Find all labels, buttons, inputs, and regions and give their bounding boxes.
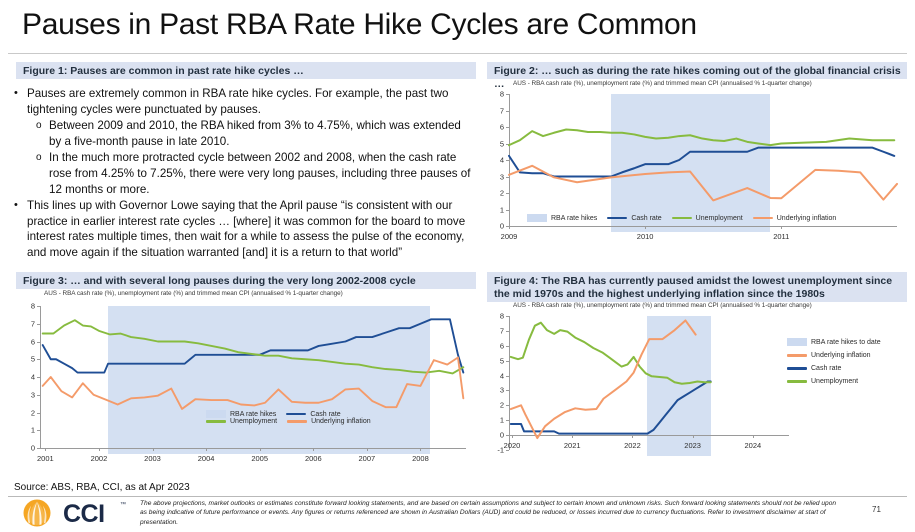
chart-legend: RBA rate hikesCash rateUnemploymentUnder… [527,214,907,222]
figure4-header: Figure 4: The RBA has currently paused a… [487,272,907,302]
legend-label: Unemployment [696,215,743,222]
bullet-circle-icon: o [36,150,49,166]
legend-band-swatch [206,410,226,418]
bullet-dot-icon: • [14,198,27,214]
legend-label: Underlying inflation [311,418,371,425]
page-number: 71 [872,505,881,514]
legend-item[interactable]: RBA rate hikes [206,410,276,418]
bullet-circle-icon: o [36,118,49,134]
figure4-chart: AUS - RBA cash rate (%), unemployment ra… [487,302,907,482]
trademark-symbol: ™ [120,502,126,508]
series-line-cash-rate [43,319,464,372]
series-line-underlying-inflation [509,166,897,201]
legend-item[interactable]: Cash rate [607,214,661,222]
legend-item[interactable]: Underlying inflation [287,418,371,425]
cci-logo: CCI ™ [16,499,128,527]
chart-legend: RBA rate hikes to dateUnderlying inflati… [787,338,907,391]
legend-label: Unemployment [811,378,858,385]
cci-wordmark: CCI [63,500,105,529]
legend-line-swatch [753,217,773,220]
legend-label: Underlying inflation [777,215,837,222]
list-item-text: Pauses are extremely common in RBA rate … [27,86,476,117]
series-line-unemployment [511,323,711,384]
figure3-header: Figure 3: … and with several long pauses… [16,272,476,289]
list-item-text: Between 2009 and 2010, the RBA hiked fro… [49,118,476,149]
legend-label: Cash rate [811,365,841,372]
legend-label: Unemployment [230,418,277,425]
legend-label: Underlying inflation [811,352,871,359]
legend-item[interactable]: Underlying inflation [753,214,837,222]
footer: CCI ™ The above projections, market outl… [0,497,915,529]
series-line-underlying-inflation [43,357,464,408]
disclaimer-text: The above projections, market outlooks o… [140,499,840,527]
legend-label: Cash rate [631,215,661,222]
figure3-chart: AUS - RBA cash rate (%), unemployment ra… [16,290,476,482]
legend-line-swatch [286,413,306,416]
figure1-header: Figure 1: Pauses are common in past rate… [16,62,476,79]
title-divider [8,53,907,54]
legend-line-swatch [787,354,807,357]
list-item: • This lines up with Governor Lowe sayin… [14,198,476,260]
series-line-unemployment [509,129,894,145]
legend-line-swatch [287,420,307,423]
legend-line-swatch [787,380,807,383]
list-item: o In the much more protracted cycle betw… [14,150,476,197]
legend-label: Cash rate [310,411,340,418]
chart-series-layer [487,80,907,262]
legend-band-swatch [787,338,807,346]
legend-item[interactable]: RBA rate hikes to date [787,338,881,346]
figure1-body: • Pauses are extremely common in RBA rat… [14,86,476,262]
legend-label: RBA rate hikes to date [811,339,881,346]
legend-item[interactable]: Unemployment [206,418,277,425]
legend-line-swatch [206,420,226,423]
list-item: • Pauses are extremely common in RBA rat… [14,86,476,117]
legend-item[interactable]: Underlying inflation [787,352,871,359]
cci-flame-icon [16,499,58,527]
legend-item[interactable]: RBA rate hikes [527,214,597,222]
legend-label: RBA rate hikes [551,215,597,222]
list-item-text: This lines up with Governor Lowe saying … [27,198,476,260]
legend-item[interactable]: Unemployment [787,378,858,385]
chart-legend: RBA rate hikesCash rateUnemploymentUnder… [206,410,421,425]
legend-band-swatch [527,214,547,222]
legend-line-swatch [607,217,627,220]
legend-line-swatch [787,367,807,370]
series-line-cash-rate [511,382,711,434]
list-item: o Between 2009 and 2010, the RBA hiked f… [14,118,476,149]
legend-label: RBA rate hikes [230,411,276,418]
legend-line-swatch [672,217,692,220]
figure2-chart: AUS - RBA cash rate (%), unemployment ra… [487,80,907,262]
series-line-cash-rate [509,148,894,177]
bullet-dot-icon: • [14,86,27,102]
source-note: Source: ABS, RBA, CCI, as at Apr 2023 [14,482,190,493]
chart-series-layer [16,290,476,482]
chart-series-layer [487,302,907,482]
legend-item[interactable]: Cash rate [787,365,841,372]
page-title: Pauses in Past RBA Rate Hike Cycles are … [22,8,697,42]
figure2-header: Figure 2: … such as during the rate hike… [487,62,907,79]
list-item-text: In the much more protracted cycle betwee… [49,150,476,197]
legend-item[interactable]: Cash rate [286,410,340,418]
legend-item[interactable]: Unemployment [672,214,743,222]
